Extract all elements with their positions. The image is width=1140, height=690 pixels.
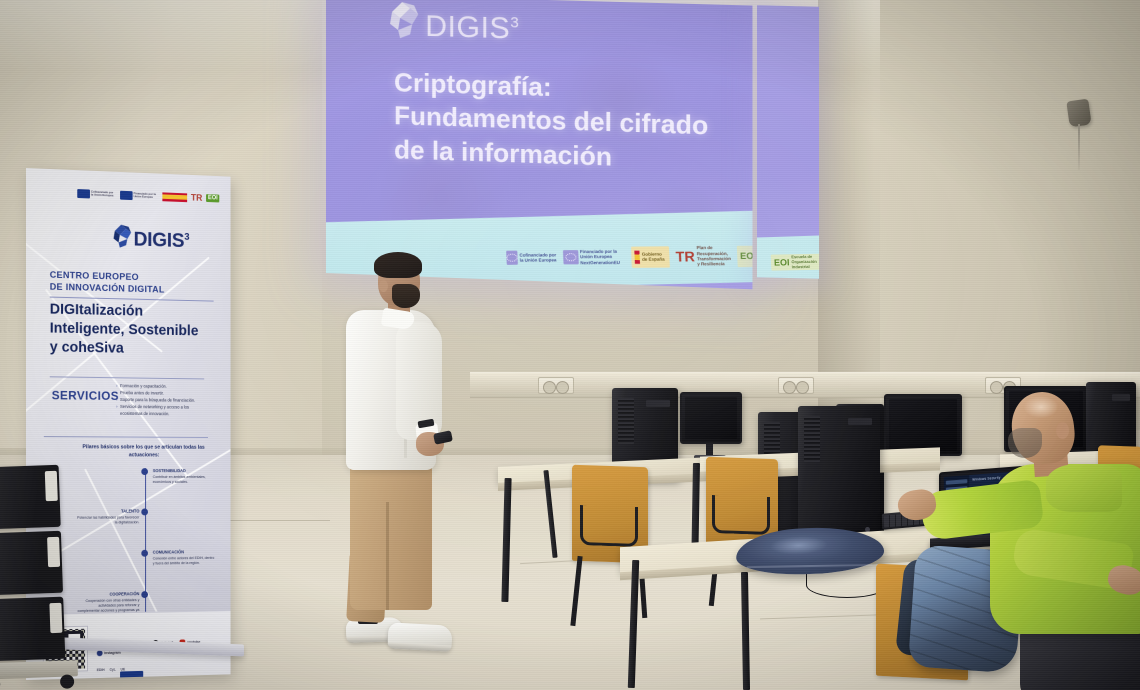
- banner-servicios-label: SERVICIOS: [52, 388, 119, 403]
- chair-frame: [580, 505, 638, 547]
- presenter-leg-seam: [386, 502, 389, 610]
- projection-spill-eoi-logo: EOI Escuela de Organización Industrial: [771, 253, 819, 270]
- eu-flag-icon: [563, 250, 579, 264]
- wall-socket: [778, 377, 814, 394]
- banner-pillar-dot: [141, 508, 148, 515]
- banner-pillar-3-desc: Conexión entre actores del EDIH, dentro …: [153, 556, 215, 566]
- banner-logo-cofinanciado-ue: Cofinanciado por la Unión Europea: [77, 189, 116, 199]
- banner-headline: DIGItalización Inteligente, Sostenible y…: [50, 301, 223, 360]
- presentation-clicker[interactable]: [433, 430, 453, 445]
- banner-logo-eoi: EOI: [206, 194, 220, 202]
- slide-logo-financiado-ue: Financiado por la Unión Europea NextGene…: [563, 246, 626, 268]
- projection-spill-strip: EOI Escuela de Organización Industrial: [757, 5, 819, 279]
- banner-pillar-2: TALENTO Potenciar las habilidades para f…: [75, 509, 139, 527]
- slide-logo-cofinanciado-ue: Cofinanciado por la Unión Europea: [506, 247, 557, 269]
- banner-logo-gobierno-espana: [162, 192, 187, 202]
- slide-logo: DIGIS3: [388, 0, 519, 44]
- banner-pillar-dot: [141, 591, 148, 598]
- wall-socket: [538, 377, 574, 394]
- banner-pillar-2-heading: TALENTO: [75, 509, 139, 515]
- banner-digis3-logo: DIGIS3: [112, 223, 189, 251]
- presenter-ear: [379, 280, 388, 292]
- eoi-mark-icon: EOI: [206, 194, 220, 202]
- banner-subtitle: CENTRO EUROPEO DE INNOVACIÓN DIGITAL: [50, 269, 214, 302]
- presenter-shoe-right: [387, 622, 452, 651]
- banner-pillar-1-heading: SOSTENIBILIDAD: [153, 468, 216, 474]
- slide-logo-gobierno-espana: Gobierno de España: [631, 246, 670, 268]
- eu-flag-icon: [120, 190, 133, 199]
- participant-ear: [1056, 422, 1069, 439]
- participant-seated: [960, 386, 1140, 690]
- banner-divider: [50, 376, 204, 379]
- presenter-chinos: [350, 460, 432, 610]
- presenter-standing: [330, 252, 480, 654]
- slide-logo-plan-recuperacion: TR Plan de Recuperación, Transformación …: [675, 245, 731, 267]
- banner-logo-plan-recuperacion: TR: [191, 193, 202, 203]
- participant-hood: [1046, 464, 1122, 512]
- stacked-unit: [0, 597, 65, 662]
- banner-pillar-1: SOSTENIBILIDAD Contribuir en ámbitos amb…: [153, 468, 216, 485]
- eu-flag-icon: [77, 189, 90, 198]
- banner-pillar-3: COMUNICACIÓN Conexión entre actores del …: [153, 549, 216, 567]
- eoi-mark-icon: EOI: [740, 251, 753, 261]
- presenter-hair: [374, 252, 422, 278]
- wall-device-cable: [1078, 124, 1080, 170]
- slide-title: Criptografía: Fundamentos del cifrado de…: [394, 66, 730, 177]
- slide-logo-eoi: EOI Escuela de Organización Industrial: [736, 245, 752, 267]
- banner-pillar-dot: [141, 468, 148, 475]
- computer-monitor: [680, 392, 742, 444]
- banner-eu-logo-row: Cofinanciado por la Unión Europea Financ…: [77, 188, 221, 203]
- banner-pillar-dot: [141, 550, 148, 557]
- slide-footer-logos: Cofinanciado por la Unión Europea Financ…: [506, 244, 753, 270]
- slide-logo-text: DIGIS3: [425, 12, 519, 43]
- participant-head-highlight: [1024, 396, 1058, 418]
- banner-divider: [44, 436, 208, 438]
- digis3-angular-logo-icon: [112, 223, 133, 249]
- digis3-angular-logo-icon: [388, 0, 422, 41]
- banner-headline-line-3: y coheSiva: [50, 338, 223, 360]
- projected-slide: DIGIS3 Criptografía: Fundamentos del cif…: [326, 0, 752, 289]
- spain-flag-icon: [162, 192, 187, 202]
- banner-pillar-1-desc: Contribuir en ámbitos ambientales, econó…: [153, 475, 206, 484]
- list-item: Servicios de networking y acceso a los e…: [116, 404, 208, 418]
- eoi-mark-icon: EOI: [774, 257, 790, 267]
- banner-pillars-title: Pilares básicos sobre los que se articul…: [81, 444, 206, 459]
- computer-monitor: [884, 394, 962, 456]
- banner-logo-text: DIGIS3: [134, 231, 190, 251]
- stacked-unit: [0, 465, 61, 530]
- banner-servicios-list: Formación y capacitación. Prueba antes d…: [116, 383, 208, 418]
- presenter-beard: [392, 284, 420, 308]
- tr-mark-icon: TR: [675, 249, 695, 263]
- desktop-tower-front: [798, 406, 880, 544]
- tr-mark-icon: TR: [191, 193, 202, 203]
- stacked-equipment-cart: [0, 465, 69, 664]
- participant-beard: [1008, 428, 1042, 458]
- right-wall: [880, 0, 1140, 430]
- classroom-scene: DIGIS3 Criptografía: Fundamentos del cif…: [0, 0, 1140, 690]
- instagram-icon: [97, 650, 103, 656]
- chair-frame: [712, 495, 770, 535]
- stacked-unit: [0, 531, 63, 596]
- banner-pillar-2-desc: Potenciar las habilidades para favorecer…: [77, 515, 139, 524]
- eu-flag-icon: [506, 251, 518, 265]
- spain-flag-icon: [634, 250, 640, 263]
- banner-logo-financiado-ue: Financiado por la Unión Europea: [120, 190, 158, 200]
